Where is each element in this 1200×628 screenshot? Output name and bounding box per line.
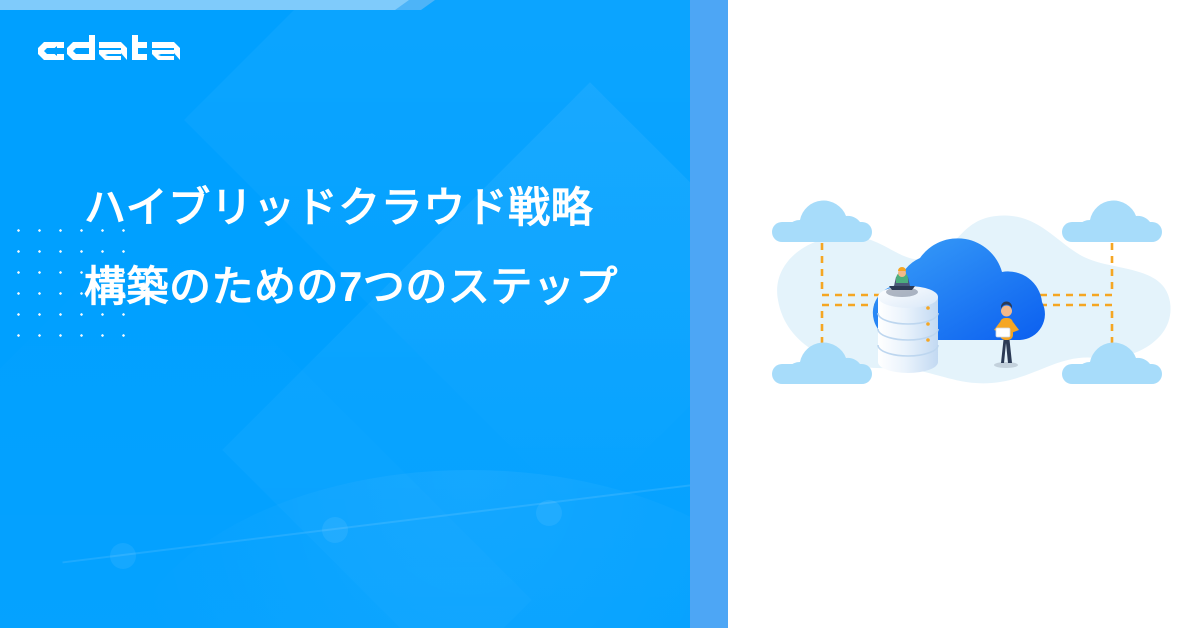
headline-line-2: 構築のための7つのステップ (84, 247, 684, 326)
page-title: ハイブリッドクラウド戦略 構築のための7つのステップ (84, 168, 684, 326)
panel-edge-band (690, 0, 728, 628)
banner: ハイブリッドクラウド戦略 構築のための7つのステップ (0, 0, 1200, 628)
background-node-dot (110, 543, 136, 569)
headline-line-1: ハイブリッドクラウド戦略 (84, 168, 684, 247)
top-accent-strip (0, 0, 430, 10)
background-node-dot (536, 500, 562, 526)
background-glow (120, 470, 728, 628)
database-cylinder (878, 286, 938, 373)
cdata-wordmark-logo[interactable] (36, 33, 182, 69)
background-node-dot (322, 517, 348, 543)
hybrid-cloud-illustration (760, 180, 1180, 420)
